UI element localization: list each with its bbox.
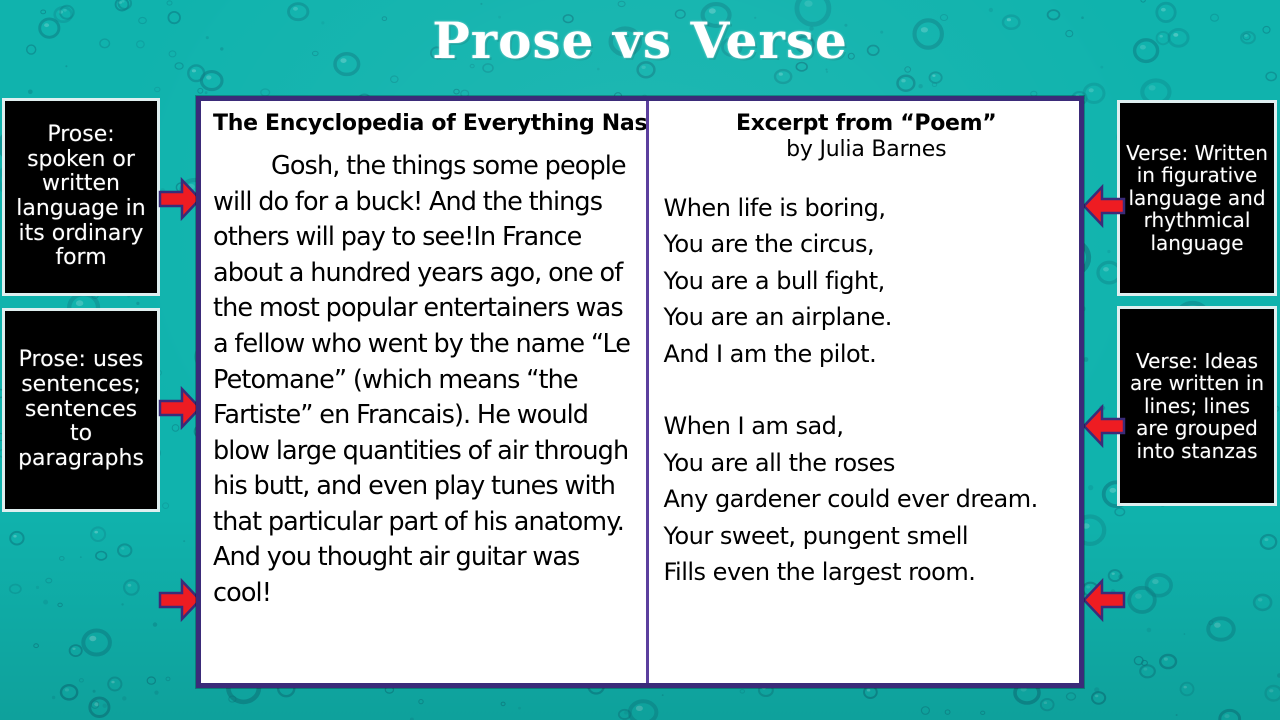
arrow-left-icon — [1082, 577, 1126, 623]
arrow-left-icon — [1082, 403, 1126, 449]
poem-stanza: When I am sad, You are all the roses Any… — [663, 408, 1069, 591]
callout-text: Verse: Ideas are written in lines; lines… — [1126, 350, 1268, 462]
callout-text: Prose: uses sentences; sentences to para… — [11, 348, 151, 471]
callout-verse-structure: Verse: Ideas are written in lines; lines… — [1117, 306, 1277, 506]
content-panel: The Encyclopedia of Everything Nasty Gos… — [196, 96, 1084, 688]
poem-line: When life is boring, — [663, 190, 1069, 227]
verse-column-heading: Excerpt from “Poem” — [663, 111, 1069, 137]
poem-line: You are a bull fight, — [663, 263, 1069, 300]
poem-line: Your sweet, pungent smell — [663, 518, 1069, 555]
verse-column-author: by Julia Barnes — [663, 137, 1069, 164]
poem-line: You are an airplane. — [663, 299, 1069, 336]
poem-line: Any gardener could ever dream. — [663, 481, 1069, 518]
verse-column: Excerpt from “Poem” by Julia Barnes When… — [649, 101, 1079, 683]
prose-column-heading: The Encyclopedia of Everything Nasty — [213, 111, 634, 137]
poem-line: You are the circus, — [663, 226, 1069, 263]
poem-line: And I am the pilot. — [663, 336, 1069, 373]
slide-title-bar: Prose vs Verse — [0, 16, 1280, 66]
poem-line: When I am sad, — [663, 408, 1069, 445]
callout-text: Prose: spoken or written language in its… — [11, 123, 151, 271]
prose-body-text: Gosh, the things some people will do for… — [213, 149, 634, 612]
callout-text: Verse: Written in figurative language an… — [1126, 142, 1268, 254]
callout-prose-definition: Prose: spoken or written language in its… — [2, 98, 160, 296]
callout-verse-definition: Verse: Written in figurative language an… — [1117, 100, 1277, 296]
callout-prose-structure: Prose: uses sentences; sentences to para… — [2, 308, 160, 512]
poem-line: Fills even the largest room. — [663, 554, 1069, 591]
poem-body: When life is boring, You are the circus,… — [663, 190, 1069, 591]
poem-stanza: When life is boring, You are the circus,… — [663, 190, 1069, 373]
arrow-left-icon — [1082, 183, 1126, 229]
prose-column: The Encyclopedia of Everything Nasty Gos… — [201, 101, 649, 683]
page-title: Prose vs Verse — [432, 16, 848, 66]
slide-prose-vs-verse: Prose vs Verse Prose: spoken or written … — [0, 0, 1280, 720]
poem-line: You are all the roses — [663, 445, 1069, 482]
